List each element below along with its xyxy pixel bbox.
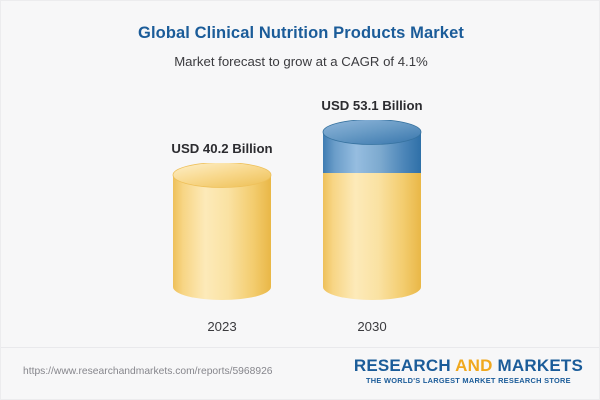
logo-word-and: AND	[455, 356, 492, 375]
brand-logo[interactable]: RESEARCH AND MARKETS THE WORLD'S LARGEST…	[354, 357, 583, 385]
logo-word-research: RESEARCH	[354, 356, 451, 375]
category-label-2023: 2023	[172, 319, 272, 334]
chart-card: Global Clinical Nutrition Products Marke…	[0, 0, 600, 400]
report-url[interactable]: https://www.researchandmarkets.com/repor…	[23, 366, 273, 377]
logo-wordmark: RESEARCH AND MARKETS	[354, 357, 583, 375]
data-label-2023: USD 40.2 Billion	[147, 141, 297, 156]
footer: https://www.researchandmarkets.com/repor…	[1, 347, 600, 399]
category-label-2030: 2030	[322, 319, 422, 334]
bar-cylinder-2030	[321, 120, 423, 311]
logo-word-markets: MARKETS	[498, 356, 583, 375]
logo-tagline: THE WORLD'S LARGEST MARKET RESEARCH STOR…	[354, 376, 583, 385]
bar-cylinder-2023	[171, 163, 273, 311]
plot-area: USD 40.2 Billion USD 53.1 Billion 2023 2…	[1, 1, 600, 346]
data-label-2030: USD 53.1 Billion	[297, 98, 447, 113]
